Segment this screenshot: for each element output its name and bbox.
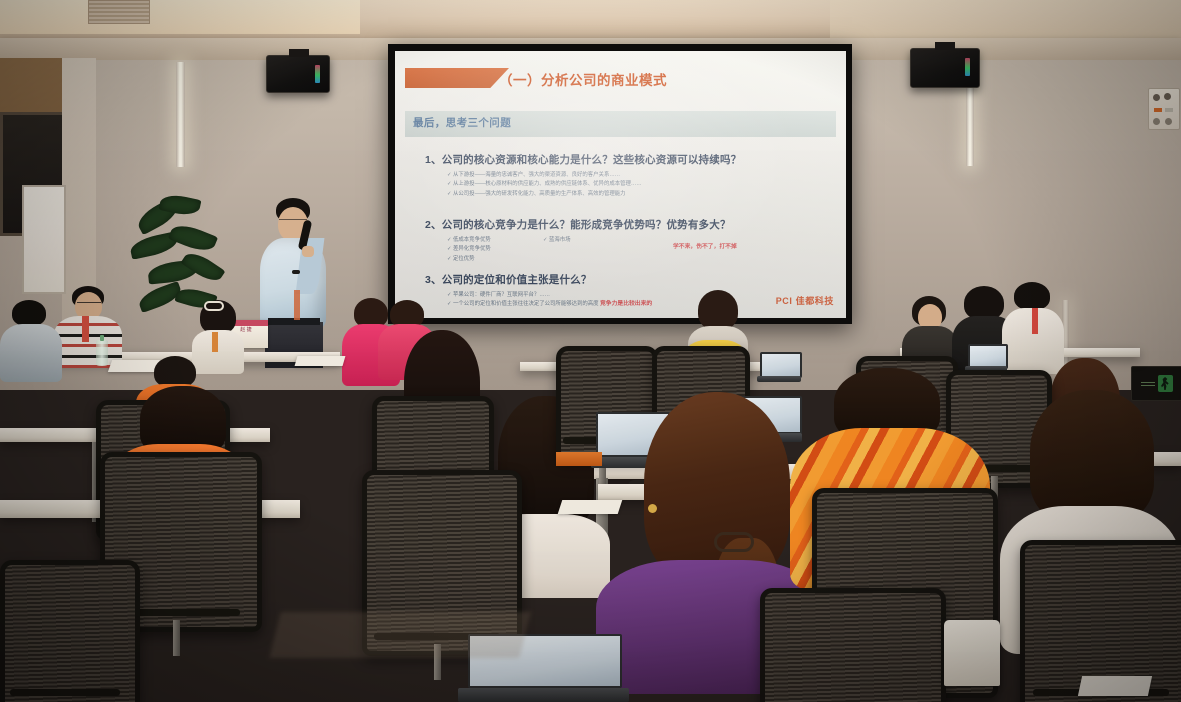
office-chair-bottom-far-left[interactable] xyxy=(0,560,130,702)
slide-title-band xyxy=(405,68,509,88)
projection-screen-frame: （一）分析公司的商业模式 最后，思考三个问题 1、公司的核心资源和核心能力是什么… xyxy=(388,44,852,324)
bullet: ✓ 从上游投——核心原材料的供应能力、成熟的供应链体系、优异的成本管理…… xyxy=(447,180,642,189)
question-number: 1、 xyxy=(425,154,442,166)
bullet: ✓ 一个公司的定位和价值主张往往决定了公司所能够达到的高度 xyxy=(447,300,599,309)
paper-cup xyxy=(944,620,1000,686)
hair-tie-icon xyxy=(204,301,224,311)
bullet: ✓ 低成本竞争优势 xyxy=(447,236,491,245)
slide-annotation-2: 竞争力是比较出来的 xyxy=(600,298,652,307)
bullet: ✓ 差异化竞争优势 xyxy=(447,245,491,254)
bullet: ✓ 定位优势 xyxy=(447,255,491,264)
chair-back xyxy=(760,588,946,702)
slide-subhead: 最后，思考三个问题 xyxy=(413,115,511,130)
laptop-base xyxy=(458,688,629,702)
question-text: 公司的核心竞争力是什么？能形成竞争优势吗？优势有多大？ xyxy=(442,219,731,231)
slide-content: （一）分析公司的商业模式 最后，思考三个问题 1、公司的核心资源和核心能力是什么… xyxy=(395,51,846,318)
hair-tie-icon xyxy=(714,532,754,552)
attendee-back-left xyxy=(0,300,64,380)
bullet: ✓ 蓝海市场 xyxy=(543,236,571,245)
training-room-photo: （一）分析公司的商业模式 最后，思考三个问题 1、公司的核心资源和核心能力是什么… xyxy=(0,0,1181,702)
earring-icon xyxy=(648,504,657,513)
glasses-icon xyxy=(77,302,101,307)
chair-back xyxy=(0,560,140,702)
slide-question-2-bullets-right: ✓ 蓝海市场 xyxy=(543,236,571,245)
question-number: 2、 xyxy=(425,219,442,231)
slide-question-1: 1、公司的核心资源和核心能力是什么？这些核心资源可以持续吗？ xyxy=(425,152,741,167)
control-knob-icon[interactable] xyxy=(1153,94,1160,101)
ceiling-speaker-right xyxy=(910,48,980,88)
lanyard-icon xyxy=(212,332,218,352)
bullet: ✓ 从下游投——海量的忠诚客户、强大的渠道资源、良好的客户关系…… xyxy=(447,171,642,180)
laptop-screen xyxy=(968,344,1008,369)
speaker-led-icon xyxy=(315,65,320,83)
slide-question-2: 2、公司的核心竞争力是什么？能形成竞争优势吗？优势有多大？ xyxy=(425,217,731,232)
control-knob-icon[interactable] xyxy=(1164,93,1171,100)
lanyard-icon xyxy=(82,316,89,342)
air-vent xyxy=(88,0,150,24)
office-chair-bottom-center[interactable] xyxy=(760,588,936,702)
whiteboard xyxy=(22,185,66,294)
wall-control-panel[interactable] xyxy=(1148,88,1180,130)
lanyard-icon xyxy=(294,290,300,320)
question-number: 3、 xyxy=(425,274,442,286)
slide-title: （一）分析公司的商业模式 xyxy=(499,69,667,89)
speaker-bracket xyxy=(935,42,955,50)
wristwatch-icon xyxy=(292,270,300,274)
speaker-led-icon xyxy=(965,58,970,76)
lanyard-icon xyxy=(1032,308,1038,334)
projection-screen: （一）分析公司的商业模式 最后，思考三个问题 1、公司的核心资源和核心能力是什么… xyxy=(395,51,846,318)
control-knob-icon[interactable] xyxy=(1153,118,1160,125)
slide-annotation-1: 学不来，伤不了，打不掉 xyxy=(673,241,737,250)
indicator-lamp-icon xyxy=(1165,108,1173,112)
slide-question-3: 3、公司的定位和价值主张是什么？ xyxy=(425,272,592,287)
company-logo: PCI 佳都科技 xyxy=(776,294,834,307)
water-bottle xyxy=(96,340,108,366)
papers xyxy=(1078,676,1152,696)
chair-lumbar xyxy=(10,689,119,696)
papers xyxy=(558,500,623,514)
control-knob-icon[interactable] xyxy=(1165,118,1172,125)
indicator-lamp-icon xyxy=(1154,108,1162,112)
slide-question-2-bullets: ✓ 低成本竞争优势 ✓ 差异化竞争优势 ✓ 定位优势 xyxy=(447,236,491,264)
question-text: 公司的核心资源和核心能力是什么？这些核心资源可以持续吗？ xyxy=(442,154,742,166)
papers xyxy=(295,356,346,366)
slide-question-3-bullets: ✓ 苹果公司：硬件厂商？互联网平台？…… ✓ 一个公司的定位和价值主张往往决定了… xyxy=(447,291,599,310)
bullet: ✓ 从公司投——强大的研发转化能力、高质量的生产体系、高效的管理能力 xyxy=(447,190,642,199)
notebook xyxy=(556,452,602,466)
presenter-hand xyxy=(302,246,314,257)
carpet-patch xyxy=(269,612,530,658)
wall-light-strip xyxy=(176,62,185,167)
slide-question-1-bullets: ✓ 从下游投——海量的忠诚客户、强大的渠道资源、良好的客户关系…… ✓ 从上游投… xyxy=(447,171,642,199)
ceiling-speaker-left xyxy=(266,55,330,93)
ceiling-cove-light xyxy=(0,0,360,34)
question-text: 公司的定位和价值主张是什么？ xyxy=(442,274,592,286)
exit-arrow-icon xyxy=(1141,382,1155,386)
bullet: ✓ 苹果公司：硬件厂商？互联网平台？…… xyxy=(447,291,599,300)
speaker-bracket xyxy=(289,49,309,57)
chair-stem xyxy=(173,620,180,656)
